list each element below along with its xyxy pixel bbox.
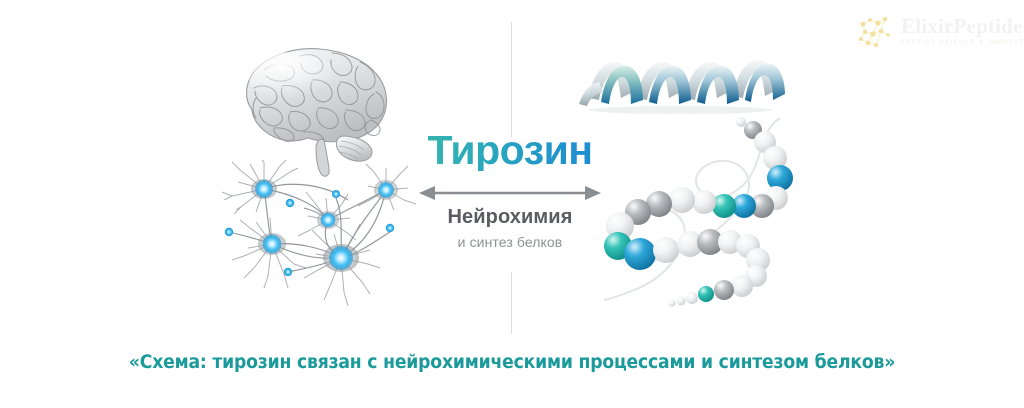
vertical-divider-top <box>511 22 512 137</box>
bead <box>686 292 698 304</box>
synapse-dot <box>332 190 340 198</box>
bead <box>731 275 753 297</box>
synapse-dot <box>284 268 292 276</box>
molecule-lattice-icon <box>855 12 897 50</box>
bead <box>677 297 686 306</box>
bead <box>714 280 734 300</box>
protein-alpha-helix-illustration <box>575 48 790 116</box>
neuron-node <box>263 235 282 254</box>
bead <box>653 237 679 263</box>
double-headed-arrow-icon <box>419 184 601 202</box>
figure-caption: «Схема: тирозин связан с нейрохимическим… <box>36 352 988 373</box>
synapse-dot <box>286 199 294 207</box>
bead <box>698 286 714 302</box>
bead <box>712 194 736 218</box>
infographic-canvas: ElixirPeptide PEPTIDE SCIENCE & INNOVATI… <box>0 0 1024 408</box>
vertical-divider-bottom <box>511 272 512 334</box>
polypeptide-bead-chain-illustration <box>592 108 797 310</box>
neuron-node <box>255 180 273 198</box>
bead <box>669 300 676 307</box>
bead <box>624 238 656 270</box>
neuron-node <box>329 246 353 270</box>
bead <box>736 117 746 127</box>
neuron-node <box>321 213 336 228</box>
watermark: ElixirPeptide PEPTIDE SCIENCE & INNOVATI… <box>855 8 1020 54</box>
bead <box>669 187 695 213</box>
synapse-dot <box>225 228 233 236</box>
watermark-brand: ElixirPeptide <box>901 16 1024 37</box>
bead <box>692 190 716 214</box>
watermark-tagline: PEPTIDE SCIENCE & INNOVATION <box>901 40 1024 46</box>
watermark-text: ElixirPeptide PEPTIDE SCIENCE & INNOVATI… <box>901 16 1024 46</box>
